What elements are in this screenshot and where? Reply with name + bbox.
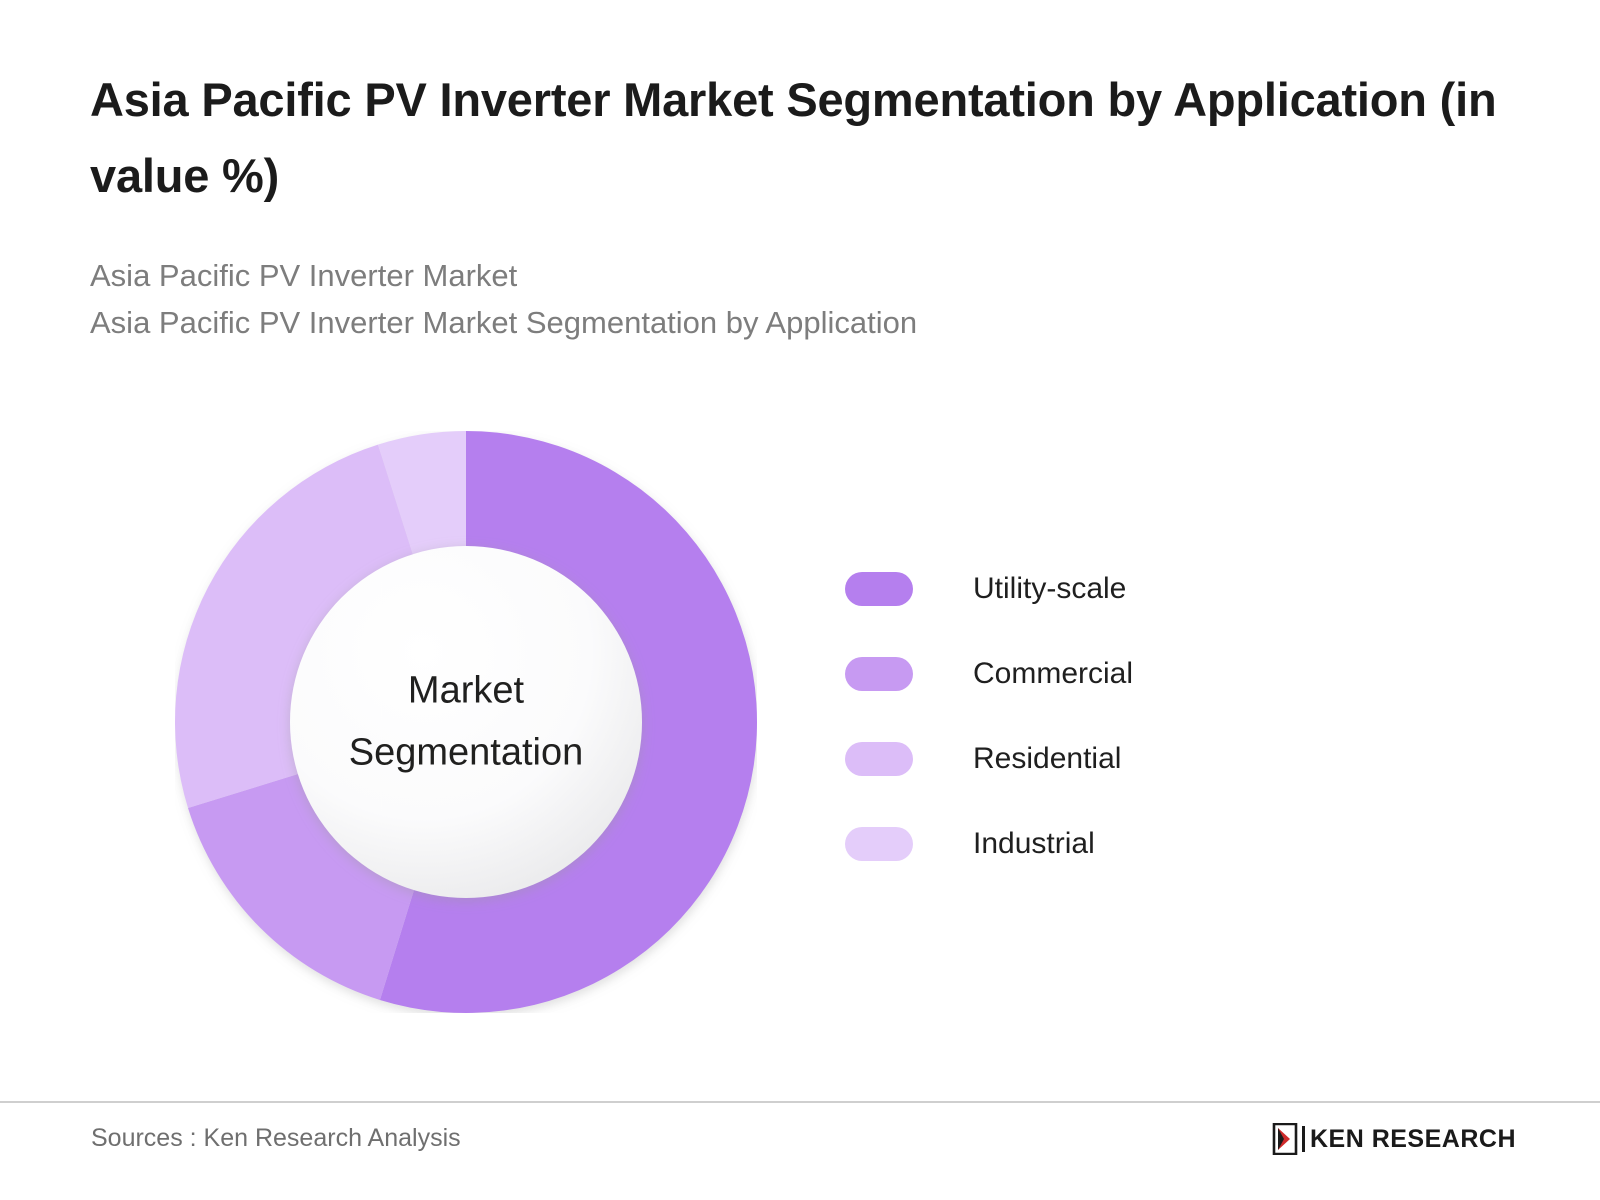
footer-divider (0, 1101, 1600, 1103)
chart-legend: Utility-scaleCommercialResidentialIndust… (845, 546, 1133, 886)
subtitle-block: Asia Pacific PV Inverter Market Asia Pac… (90, 252, 917, 347)
footer-source-text: Sources : Ken Research Analysis (91, 1124, 461, 1153)
legend-item-residential[interactable]: Residential (845, 716, 1133, 801)
legend-swatch-icon (845, 572, 913, 606)
legend-swatch-icon (845, 827, 913, 861)
legend-label: Commercial (973, 657, 1133, 691)
donut-center-hole (290, 546, 642, 898)
donut-svg (175, 431, 757, 1013)
donut-chart: Market Segmentation (175, 431, 757, 1013)
brand-logo: KEN RESEARCH (1272, 1122, 1516, 1156)
legend-item-utility-scale[interactable]: Utility-scale (845, 546, 1133, 631)
legend-item-commercial[interactable]: Commercial (845, 631, 1133, 716)
chart-area: Market Segmentation Utility-scaleCommerc… (0, 400, 1600, 1060)
subtitle-line-2: Asia Pacific PV Inverter Market Segmenta… (90, 299, 917, 346)
legend-label: Utility-scale (973, 572, 1126, 606)
subtitle-line-1: Asia Pacific PV Inverter Market (90, 252, 917, 299)
legend-swatch-icon (845, 657, 913, 691)
brand-divider (1302, 1126, 1305, 1152)
legend-item-industrial[interactable]: Industrial (845, 801, 1133, 886)
legend-label: Industrial (973, 827, 1095, 861)
brand-name: KEN RESEARCH (1310, 1125, 1516, 1154)
slide-canvas: Asia Pacific PV Inverter Market Segmenta… (0, 0, 1600, 1200)
legend-swatch-icon (845, 742, 913, 776)
legend-label: Residential (973, 742, 1121, 776)
page-title: Asia Pacific PV Inverter Market Segmenta… (90, 62, 1550, 214)
ken-research-k-mark-icon (1272, 1123, 1298, 1155)
